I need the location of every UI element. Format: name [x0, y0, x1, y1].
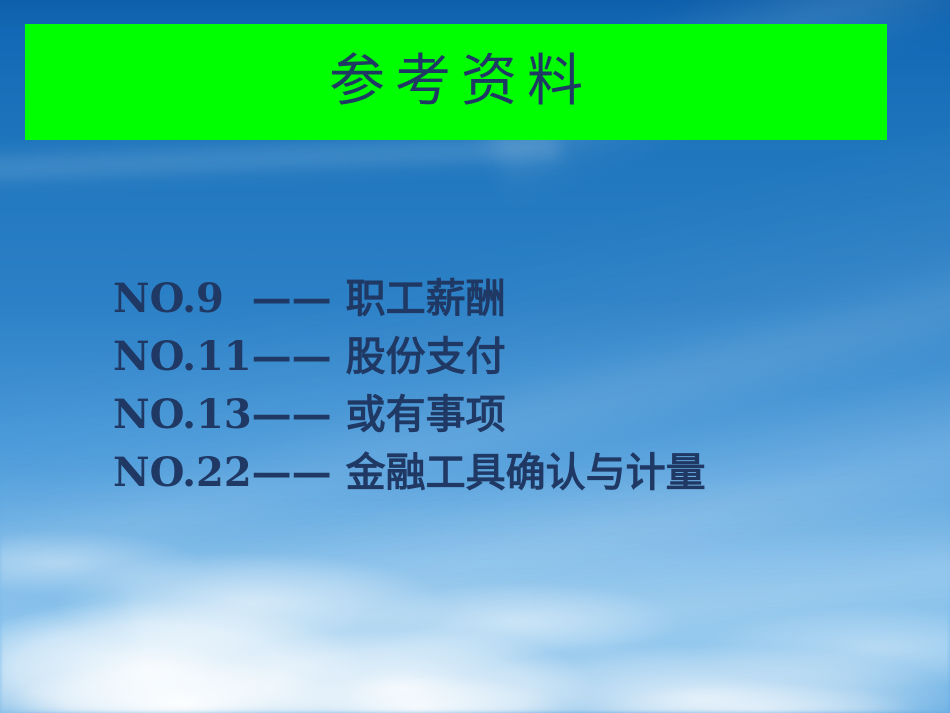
cloud-bank-highlight — [0, 608, 950, 713]
title-banner: 参考资料 — [25, 24, 887, 140]
reference-list: NO.9 —— 职工薪酬 NO.11—— 股份支付 NO.13—— 或有事项 N… — [113, 270, 913, 502]
page-title: 参考资料 — [319, 54, 593, 110]
list-item: NO.9 —— 职工薪酬 — [113, 270, 913, 328]
list-item: NO.11—— 股份支付 — [113, 328, 913, 386]
slide-canvas: 参考资料 NO.9 —— 职工薪酬 NO.11—— 股份支付 NO.13—— 或… — [0, 0, 950, 713]
sky-light-streak-lower — [0, 503, 950, 713]
list-item: NO.22—— 金融工具确认与计量 — [113, 444, 913, 502]
list-item: NO.13—— 或有事项 — [113, 386, 913, 444]
